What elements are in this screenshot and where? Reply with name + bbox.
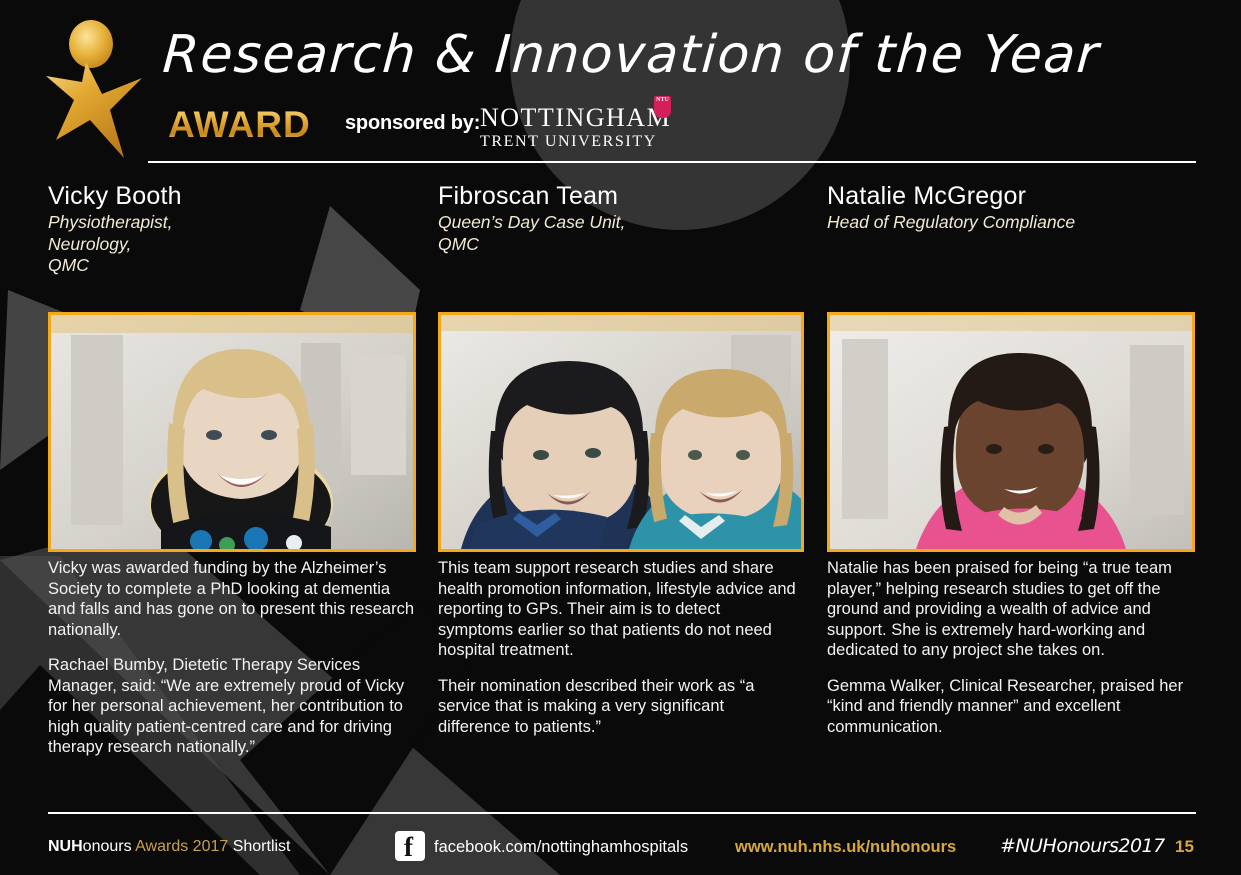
facebook-icon[interactable]: f xyxy=(395,831,425,861)
nominee-role: Queen’s Day Case Unit, QMC xyxy=(438,212,806,255)
paragraph: Their nomination described their work as… xyxy=(438,676,798,738)
nominee-photo-2 xyxy=(438,312,804,552)
nominee-body-3: Natalie has been praised for being “a tr… xyxy=(827,558,1197,752)
footer-shortlist: Shortlist xyxy=(233,838,291,855)
nominee-name: Vicky Booth xyxy=(48,182,416,211)
nominee-role: Physiotherapist, Neurology, QMC xyxy=(48,212,416,277)
nominee-heading-2: Fibroscan Team Queen’s Day Case Unit, QM… xyxy=(438,182,806,255)
nominee-body-2: This team support research studies and s… xyxy=(438,558,798,752)
nominee-role: Head of Regulatory Compliance xyxy=(827,212,1195,234)
nominee-heading-1: Vicky Booth Physiotherapist, Neurology, … xyxy=(48,182,416,277)
page-footer: NUHonours Awards 2017 Shortlist f facebo… xyxy=(0,826,1241,875)
footer-awards-year: Awards 2017 xyxy=(135,838,233,855)
nominee-columns: Vicky Booth Physiotherapist, Neurology, … xyxy=(0,0,1241,875)
paragraph: Vicky was awarded funding by the Alzheim… xyxy=(48,558,414,640)
footer-onours: onours xyxy=(83,838,135,855)
website-url[interactable]: www.nuh.nhs.uk/nuhonours xyxy=(735,838,956,857)
footer-nuh: NUH xyxy=(48,838,83,855)
paragraph: Natalie has been praised for being “a tr… xyxy=(827,558,1197,661)
nominee-name: Fibroscan Team xyxy=(438,182,806,211)
hashtag: #NUHonours2017 xyxy=(1000,835,1165,857)
nominee-heading-3: Natalie McGregor Head of Regulatory Comp… xyxy=(827,182,1195,234)
paragraph: This team support research studies and s… xyxy=(438,558,798,661)
nominee-name: Natalie McGregor xyxy=(827,182,1195,211)
footer-shortlist-label: NUHonours Awards 2017 Shortlist xyxy=(48,838,291,856)
award-page: Research & Innovation of the Year AWARD … xyxy=(0,0,1241,875)
paragraph: Rachael Bumby, Dietetic Therapy Services… xyxy=(48,655,414,758)
header-divider xyxy=(148,161,1196,163)
nominee-photo-3 xyxy=(827,312,1195,552)
nominee-body-1: Vicky was awarded funding by the Alzheim… xyxy=(48,558,414,773)
page-number: 15 xyxy=(1175,837,1194,857)
nominee-photo-1 xyxy=(48,312,416,552)
footer-divider xyxy=(48,812,1196,814)
paragraph: Gemma Walker, Clinical Researcher, prais… xyxy=(827,676,1197,738)
facebook-url[interactable]: facebook.com/nottinghamhospitals xyxy=(434,838,688,857)
